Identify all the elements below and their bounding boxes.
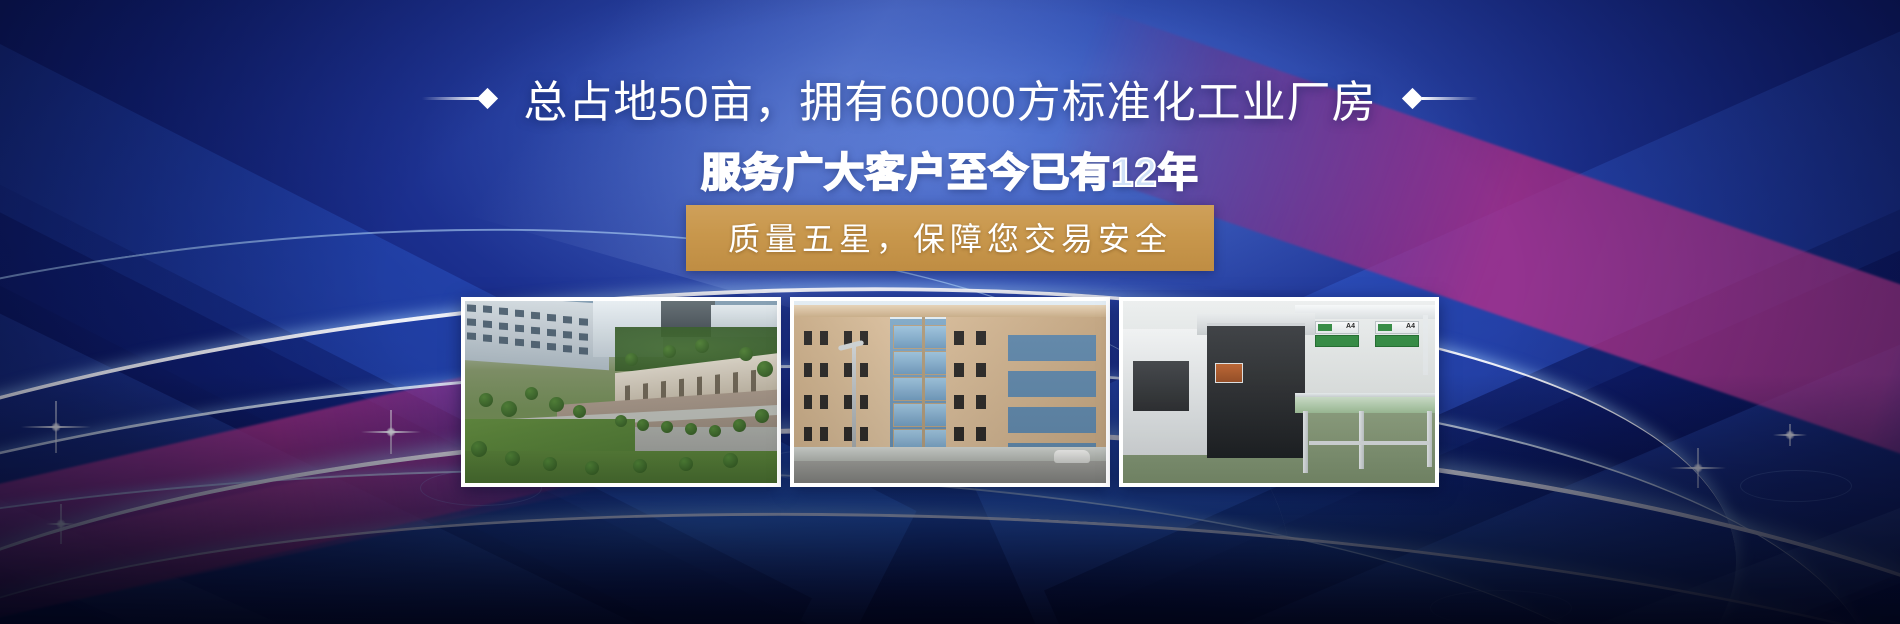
banner-content: 总占地50亩，拥有60000方标准化工业厂房 服务广大客户至今已有12年 质量五… — [0, 0, 1900, 624]
gold-badge-wrapper: 质量五星，保障您交易安全 — [0, 205, 1900, 271]
quality-guarantee-badge: 质量五星，保障您交易安全 — [686, 205, 1214, 271]
quality-guarantee-text: 质量五星，保障您交易安全 — [728, 214, 1172, 260]
arrow-left-diamond-icon — [1403, 91, 1478, 106]
headline-row: 总占地50亩，拥有60000方标准化工业厂房 — [0, 66, 1900, 130]
promotional-banner: 总占地50亩，拥有60000方标准化工业厂房 服务广大客户至今已有12年 质量五… — [0, 0, 1900, 624]
photo-gallery: A4 A4 — [0, 297, 1900, 487]
banner-headline: 总占地50亩，拥有60000方标准化工业厂房 — [523, 66, 1376, 130]
banner-subheadline: 服务广大客户至今已有12年 — [0, 140, 1900, 198]
photo-office-building — [790, 297, 1110, 487]
arrow-right-diamond-icon — [422, 91, 497, 106]
photo-aerial-factory-campus — [461, 297, 781, 487]
photo-production-equipment: A4 A4 — [1119, 297, 1439, 487]
